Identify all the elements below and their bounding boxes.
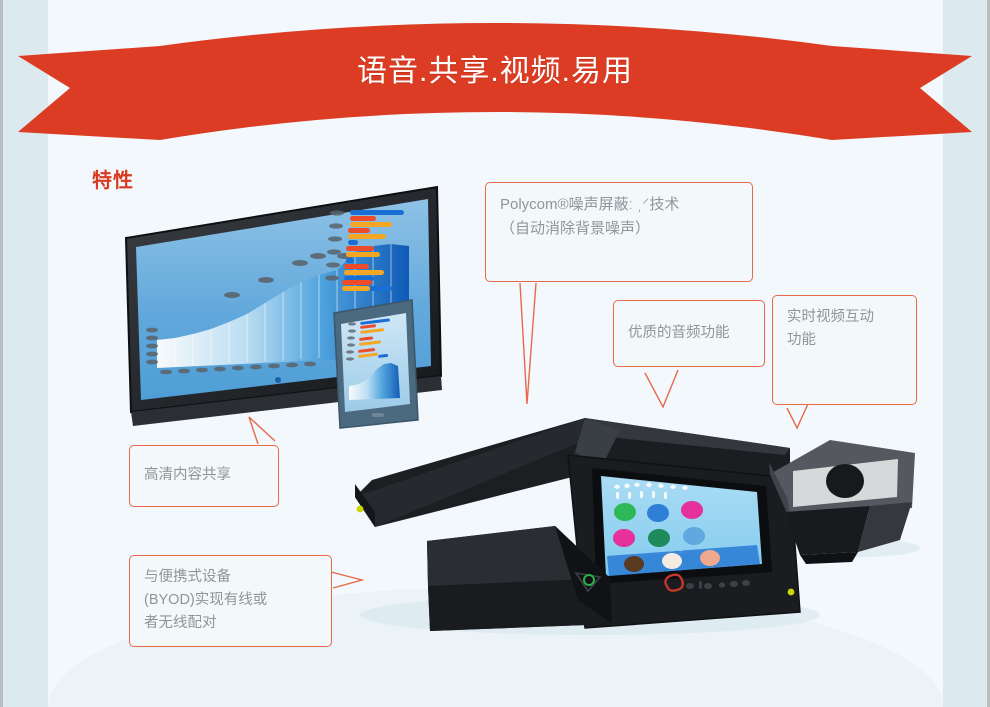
callout-hd-content-share-line-1: 高清内容共享	[144, 464, 231, 487]
callout-noise-block-line-1: Polycom®噪声屏蔽ː ˌ⸍技术	[500, 193, 738, 217]
callout-realtime-video-line-1: 实时视频互动	[787, 306, 902, 329]
callout-premium-audio[interactable]: 优质的音频功能	[613, 300, 765, 367]
callout-hd-content-share[interactable]: 高清内容共享	[129, 445, 279, 507]
callout-realtime-video-line-2: 功能	[787, 329, 902, 352]
callout-byod-pairing-line-1: 与便携式设备	[144, 566, 317, 589]
callout-byod-pairing[interactable]: 与便携式设备 (BYOD)实现有线或 者无线配对	[129, 555, 332, 647]
callout-byod-pairing-line-2: (BYOD)实现有线或	[144, 589, 317, 612]
tablet	[334, 300, 418, 428]
infographic-page: 语音.共享.视频.易用 特性	[0, 0, 990, 707]
callout-premium-audio-line-1: 优质的音频功能	[628, 322, 730, 345]
callout-noise-block-line-2: （自动消除背景噪声）	[500, 217, 738, 241]
callout-byod-pairing-line-3: 者无线配对	[144, 612, 317, 635]
callout-noise-block[interactable]: Polycom®噪声屏蔽ː ˌ⸍技术 （自动消除背景噪声）	[485, 182, 753, 282]
callout-realtime-video[interactable]: 实时视频互动 功能	[772, 295, 917, 405]
